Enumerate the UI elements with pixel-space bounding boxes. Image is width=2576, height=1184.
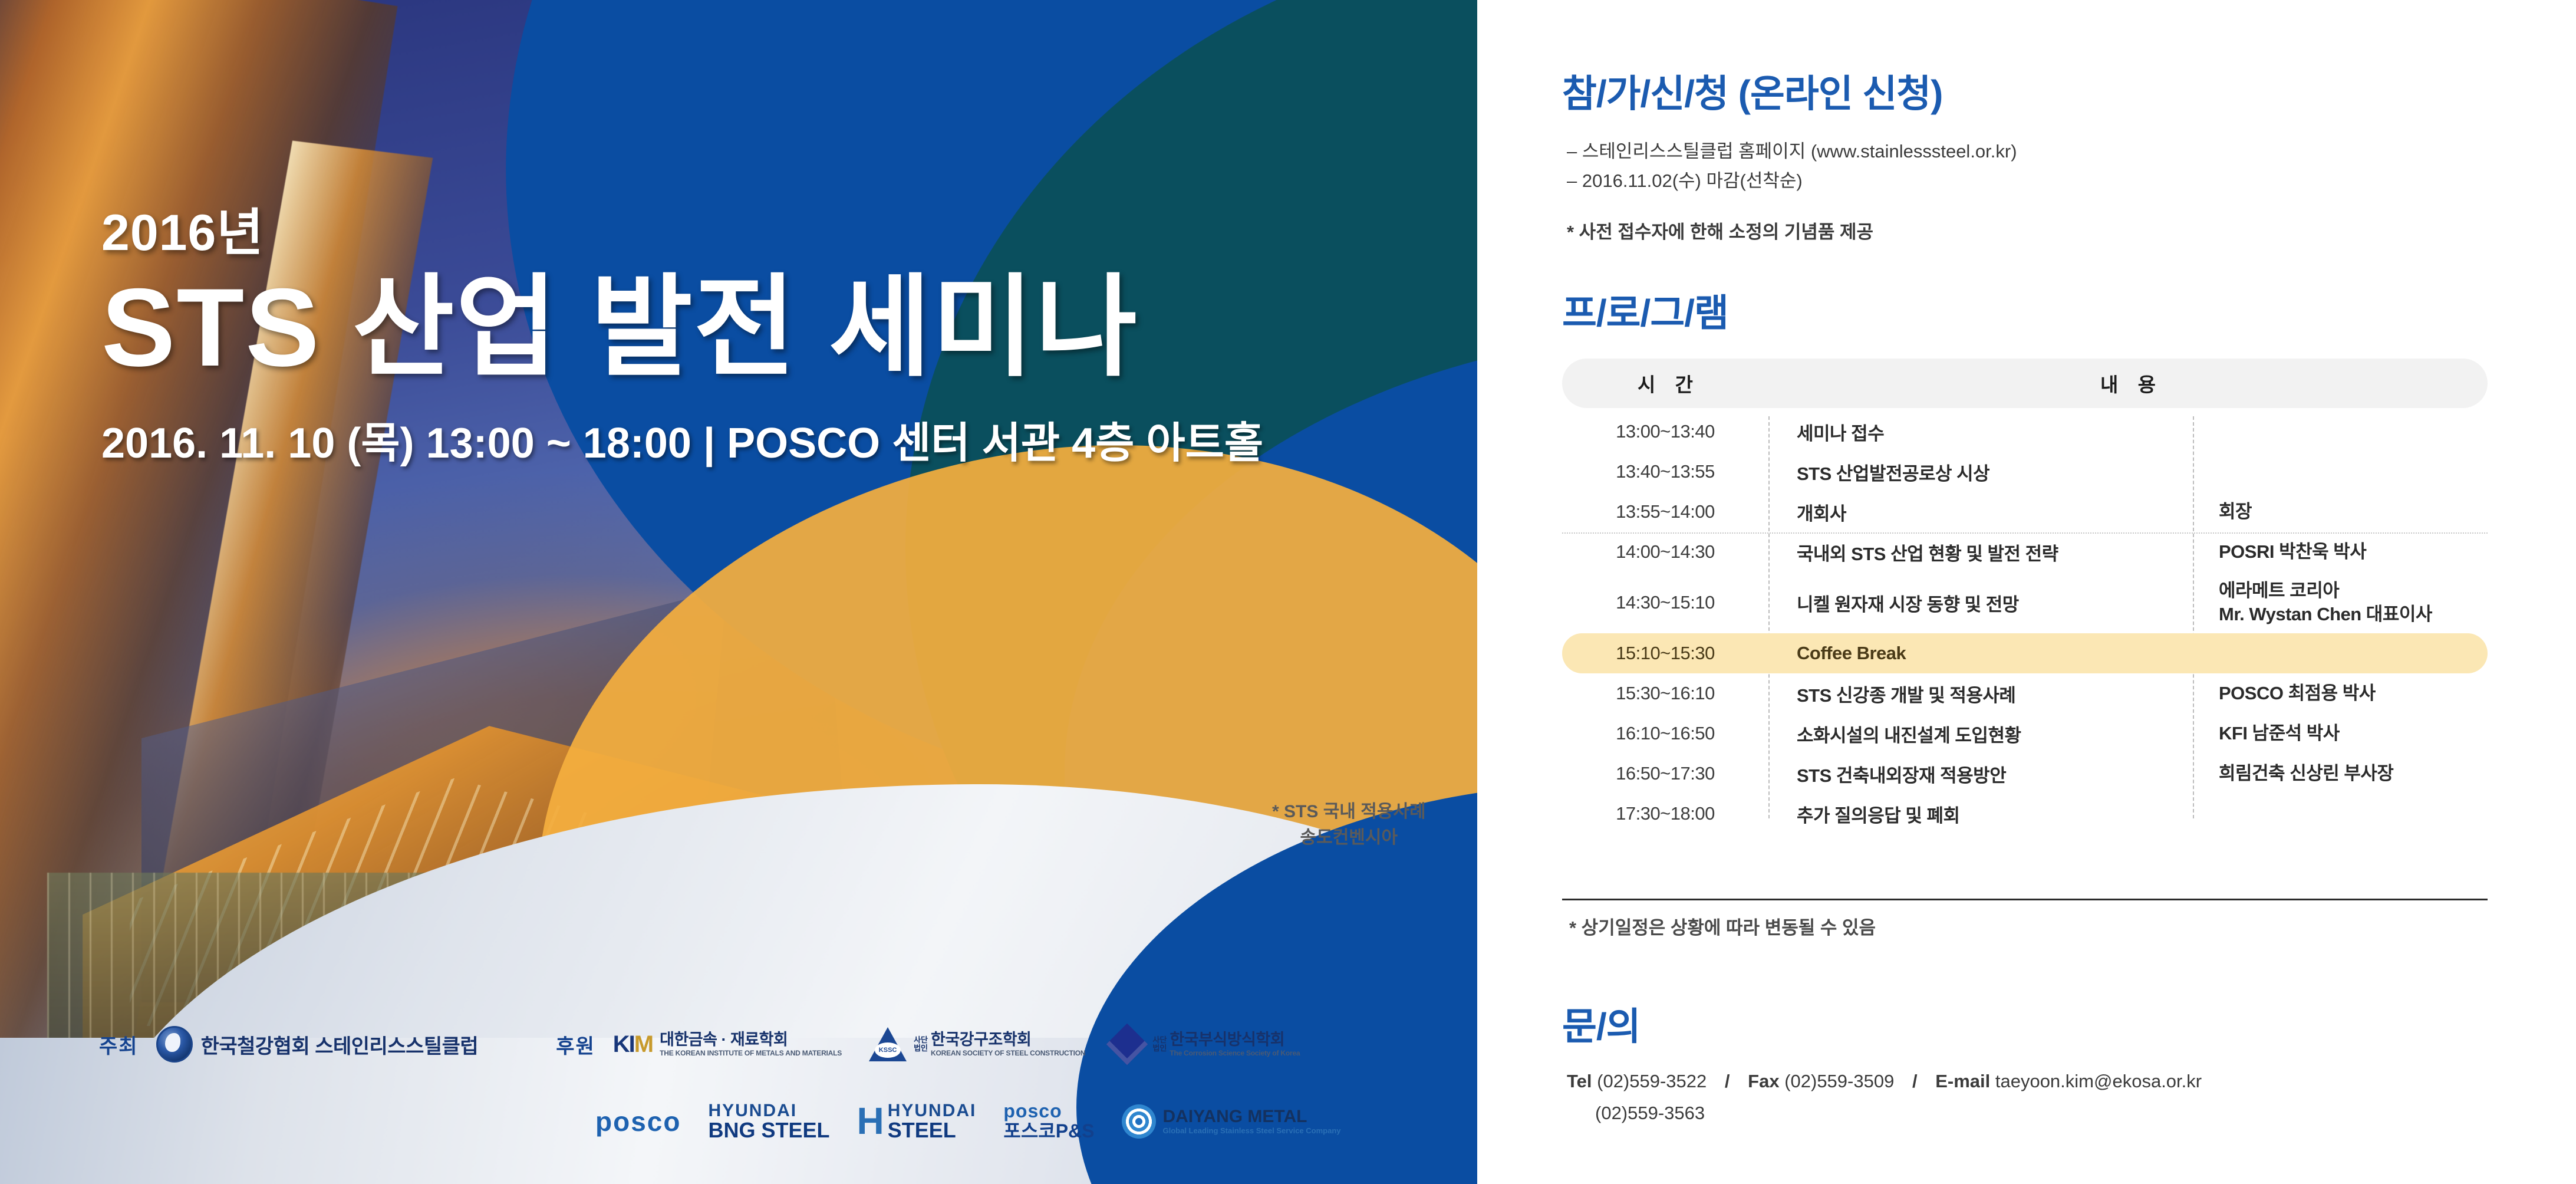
support-label: 후원 bbox=[556, 1030, 595, 1059]
row-time: 15:30~16:10 bbox=[1562, 683, 1768, 704]
row-time: 15:10~15:30 bbox=[1562, 643, 1768, 664]
posco-pns-logo-icon: posco 포스코P&S bbox=[1003, 1101, 1094, 1141]
row-topic: Coffee Break bbox=[1768, 643, 2193, 664]
table-row: 16:50~17:30STS 건축내외장재 적용방안희림건축 신상린 부사장 bbox=[1562, 754, 2488, 794]
application-deadline-line: – 2016.11.02(수) 마감(선착순) bbox=[1567, 166, 2017, 196]
info-panel: 참/가/신/청 (온라인 신청) – 스테인리스스틸클럽 홈페이지 (www.s… bbox=[1477, 0, 2576, 1184]
row-topic: 국내외 STS 산업 현황 및 발전 전략 bbox=[1768, 539, 2193, 565]
contact-details: Tel (02)559-3522 / Fax (02)559-3509 / E-… bbox=[1567, 1071, 2202, 1092]
application-details: – 스테인리스스틸클럽 홈페이지 (www.stainlesssteel.or.… bbox=[1567, 137, 2017, 196]
photo-caption-line-1: * STS 국내 적용사례 bbox=[1272, 799, 1426, 825]
row-time: 16:50~17:30 bbox=[1562, 763, 1768, 784]
posco-logo-icon: posco bbox=[595, 1106, 681, 1137]
steel-association-seal-icon bbox=[156, 1026, 193, 1063]
row-speaker-line-1: 에라메트 코리아 bbox=[2219, 579, 2488, 603]
email-label: E-mail bbox=[1935, 1071, 1990, 1091]
contact-section-title: 문/의 bbox=[1562, 996, 1641, 1051]
program-table-header: 시 간 내 용 bbox=[1562, 359, 2488, 408]
row-speaker: POSRI 박찬욱 박사 bbox=[2193, 540, 2488, 564]
logo-daiyang-metal: DAIYANG METAL Global Leading Stainless S… bbox=[1122, 1104, 1341, 1139]
daiyang-metal-logo-icon bbox=[1122, 1104, 1156, 1139]
email-value[interactable]: taeyoon.kim@ekosa.or.kr bbox=[1995, 1071, 2202, 1091]
table-row: 17:30~18:00추가 질의응답 및 폐회 bbox=[1562, 794, 2488, 834]
kssc-name-ko: 한국강구조학회 bbox=[931, 1031, 1085, 1049]
hero-year: 2016년 bbox=[101, 208, 1263, 258]
row-topic: STS 산업발전공로상 시상 bbox=[1768, 459, 2193, 485]
row-topic: 소화시설의 내진설계 도입현황 bbox=[1768, 721, 2193, 747]
logo-korea-iron-steel-association: 한국철강협회 스테인리스스틸클럽 bbox=[156, 1026, 479, 1063]
bng-steel-logo-icon: HYUNDAI BNG STEEL bbox=[708, 1102, 829, 1141]
photo-credit-caption: * STS 국내 적용사례 송도컨벤시아 bbox=[1272, 799, 1426, 850]
logo-kssc: 사단법인 한국강구조학회 KOREAN SOCIETY OF STEEL CON… bbox=[869, 1027, 1085, 1061]
bng-brand: HYUNDAI bbox=[708, 1102, 829, 1120]
fax-value: (02)559-3509 bbox=[1784, 1071, 1894, 1091]
host-and-support-row: 주최 한국철강협회 스테인리스스틸클럽 후원 KIM 대한금속 · 재료학회 T… bbox=[99, 1026, 1300, 1063]
application-website-line: – 스테인리스스틸클럽 홈페이지 (www.stainlesssteel.or.… bbox=[1567, 137, 2017, 166]
hyundai-steel-logo-icon: H bbox=[857, 1104, 884, 1139]
table-row: 14:00~14:30국내외 STS 산업 현황 및 발전 전략POSRI 박찬… bbox=[1562, 532, 2488, 572]
corrosion-diamond-icon bbox=[1106, 1024, 1148, 1065]
daiyang-name: DAIYANG METAL bbox=[1163, 1107, 1341, 1127]
kssc-legal-prefix: 사단법인 bbox=[914, 1036, 928, 1052]
host-label: 주최 bbox=[99, 1030, 139, 1059]
row-speaker-line-2: Mr. Wystan Chen 대표이사 bbox=[2219, 603, 2488, 626]
hyundai-steel-text-stack: HYUNDAI STEEL bbox=[888, 1102, 977, 1141]
table-row: 16:10~16:50소화시설의 내진설계 도입현황KFI 남준석 박사 bbox=[1562, 713, 2488, 754]
row-topic: STS 건축내외장재 적용방안 bbox=[1768, 761, 2193, 787]
bng-name: BNG STEEL bbox=[708, 1120, 829, 1141]
program-table: 시 간 내 용 13:00~13:40세미나 접수13:40~13:55STS … bbox=[1562, 359, 2488, 834]
row-topic: 추가 질의응답 및 폐회 bbox=[1768, 801, 2193, 827]
table-row: 15:10~15:30Coffee Break bbox=[1562, 633, 2488, 673]
logo-corrosion-society: 사단법인 한국부식방식학회 The Corrosion Science Soci… bbox=[1112, 1030, 1300, 1059]
column-header-time: 시 간 bbox=[1562, 369, 1768, 397]
daiyang-tagline: Global Leading Stainless Steel Service C… bbox=[1163, 1127, 1341, 1136]
row-topic: 니켈 원자재 시장 동향 및 전망 bbox=[1768, 590, 2193, 616]
table-row: 14:30~15:10니켈 원자재 시장 동향 및 전망에라메트 코리아Mr. … bbox=[1562, 572, 2488, 633]
hyundai-brand: HYUNDAI bbox=[888, 1102, 977, 1120]
corrosion-name-en: The Corrosion Science Society of Korea bbox=[1170, 1049, 1300, 1057]
posco-pns-name: 포스코P&S bbox=[1003, 1121, 1094, 1142]
seminar-poster: 2016년 STS 산업 발전 세미나 2016. 11. 10 (목) 13:… bbox=[0, 0, 2576, 1184]
table-row: 13:00~13:40세미나 접수 bbox=[1562, 412, 2488, 452]
hero-headline: 2016년 STS 산업 발전 세미나 2016. 11. 10 (목) 13:… bbox=[101, 208, 1263, 470]
hyundai-name: STEEL bbox=[888, 1120, 977, 1141]
row-speaker: 에라메트 코리아Mr. Wystan Chen 대표이사 bbox=[2193, 579, 2488, 626]
application-section-title: 참/가/신/청 (온라인 신청) bbox=[1562, 64, 1942, 118]
application-gift-note: * 사전 접수자에 한해 소정의 기념품 제공 bbox=[1567, 217, 1873, 244]
daiyang-text-stack: DAIYANG METAL Global Leading Stainless S… bbox=[1163, 1107, 1341, 1136]
contact-separator-2: / bbox=[1912, 1071, 1918, 1091]
row-speaker: 회장 bbox=[2193, 500, 2488, 524]
row-time: 13:40~13:55 bbox=[1562, 461, 1768, 482]
row-speaker: POSCO 최점용 박사 bbox=[2193, 682, 2488, 705]
kim-text-stack: 대한금속 · 재료학회 THE KOREAN INSTITUTE OF META… bbox=[660, 1031, 842, 1057]
contact-separator-1: / bbox=[1725, 1071, 1730, 1091]
table-row: 15:30~16:10STS 신강종 개발 및 적용사례POSCO 최점용 박사 bbox=[1562, 673, 2488, 713]
corrosion-legal-prefix: 사단법인 bbox=[1152, 1036, 1167, 1052]
company-logo-row: posco HYUNDAI BNG STEEL H HYUNDAI STEEL bbox=[595, 1101, 1341, 1141]
hero-visual-panel: 2016년 STS 산업 발전 세미나 2016. 11. 10 (목) 13:… bbox=[0, 0, 1477, 1184]
row-time: 13:00~13:40 bbox=[1562, 421, 1768, 442]
kssc-triangle-icon bbox=[869, 1027, 907, 1061]
table-row: 13:40~13:55STS 산업발전공로상 시상 bbox=[1562, 452, 2488, 492]
program-table-bottom-rule bbox=[1562, 899, 2488, 900]
row-time: 14:00~14:30 bbox=[1562, 541, 1768, 563]
table-row: 13:55~14:00개회사회장 bbox=[1562, 492, 2488, 532]
row-speaker: 희림건축 신상린 부사장 bbox=[2193, 762, 2488, 785]
posco-pns-brand: posco bbox=[1003, 1101, 1094, 1121]
kim-name-ko: 대한금속 · 재료학회 bbox=[660, 1031, 842, 1049]
tel-value-secondary: (02)559-3563 bbox=[1595, 1103, 1705, 1124]
row-time: 14:30~15:10 bbox=[1562, 592, 1768, 613]
row-speaker: KFI 남준석 박사 bbox=[2193, 722, 2488, 745]
row-topic: 세미나 접수 bbox=[1768, 419, 2193, 445]
row-topic: 개회사 bbox=[1768, 499, 2193, 525]
logo-bng-steel: HYUNDAI BNG STEEL bbox=[708, 1102, 829, 1141]
tel-label: Tel bbox=[1567, 1071, 1592, 1091]
row-time: 17:30~18:00 bbox=[1562, 803, 1768, 824]
row-time: 13:55~14:00 bbox=[1562, 501, 1768, 522]
row-topic: STS 신강종 개발 및 적용사례 bbox=[1768, 680, 2193, 707]
kim-name-en: THE KOREAN INSTITUTE OF METALS AND MATER… bbox=[660, 1049, 842, 1057]
corrosion-text-stack: 한국부식방식학회 The Corrosion Science Society o… bbox=[1170, 1031, 1300, 1057]
logo-posco: posco bbox=[595, 1106, 681, 1137]
kssc-text-stack: 한국강구조학회 KOREAN SOCIETY OF STEEL CONSTRUC… bbox=[931, 1031, 1085, 1057]
column-header-topic: 내 용 bbox=[1768, 369, 2488, 397]
photo-caption-line-2: 송도컨벤시아 bbox=[1272, 825, 1426, 851]
host-name: 한국철강협회 스테인리스스틸클럽 bbox=[201, 1030, 479, 1059]
program-section-title: 프/로/그/램 bbox=[1562, 283, 1728, 337]
logo-hyundai-steel: H HYUNDAI STEEL bbox=[857, 1102, 976, 1141]
corrosion-name-ko: 한국부식방식학회 bbox=[1170, 1031, 1300, 1049]
hero-title: STS 산업 발전 세미나 bbox=[101, 271, 1263, 384]
tel-value: (02)559-3522 bbox=[1597, 1071, 1707, 1091]
row-time: 16:10~16:50 bbox=[1562, 723, 1768, 744]
fax-label: Fax bbox=[1748, 1071, 1779, 1091]
sponsor-logo-area: 주최 한국철강협회 스테인리스스틸클럽 후원 KIM 대한금속 · 재료학회 T… bbox=[0, 1026, 1477, 1184]
hero-datetime-venue: 2016. 11. 10 (목) 13:00 ~ 18:00 | POSCO 센… bbox=[101, 408, 1263, 470]
program-table-body: 13:00~13:40세미나 접수13:40~13:55STS 산업발전공로상 … bbox=[1562, 408, 2488, 834]
logo-posco-pns: posco 포스코P&S bbox=[1003, 1101, 1094, 1141]
kssc-name-en: KOREAN SOCIETY OF STEEL CONSTRUCTION bbox=[931, 1049, 1085, 1057]
kim-logo-icon: KIM bbox=[613, 1031, 653, 1058]
program-schedule-note: * 상기일정은 상황에 따라 변동될 수 있음 bbox=[1569, 913, 1876, 939]
logo-kim: KIM 대한금속 · 재료학회 THE KOREAN INSTITUTE OF … bbox=[613, 1031, 842, 1058]
